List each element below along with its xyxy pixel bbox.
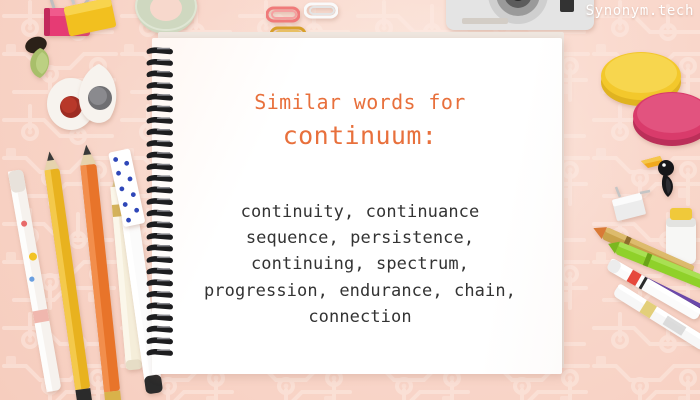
synonym-line: progression, endurance, chain, <box>180 278 540 304</box>
screenshot-root: Similar words for continuum: continuity,… <box>0 0 700 400</box>
synonym-line: sequence, persistence, <box>180 225 540 251</box>
marker-white-lower <box>604 268 700 368</box>
page-title: Similar words for <box>180 90 540 115</box>
synonym-line: continuing, spectrum, <box>180 251 540 277</box>
binder-clip-white <box>608 186 652 222</box>
spiral-binding <box>143 46 177 368</box>
notebook-page: Similar words for continuum: continuity,… <box>152 38 562 374</box>
macaron-pink <box>630 86 700 148</box>
page-content: Similar words for continuum: continuity,… <box>180 90 540 330</box>
brand-watermark: Synonym.tech <box>586 3 694 19</box>
synonym-list: continuity, continuance sequence, persis… <box>180 199 540 331</box>
search-term: continuum: <box>180 119 540 153</box>
synonym-line: connection <box>180 304 540 330</box>
binder-clip-yellow <box>58 0 130 44</box>
paper-clip-pink <box>266 6 300 24</box>
synonym-line: continuity, continuance <box>180 199 540 225</box>
notebook: Similar words for continuum: continuity,… <box>152 38 564 374</box>
paper-clip-white <box>304 2 338 20</box>
eraser-egg-gray <box>72 62 126 128</box>
